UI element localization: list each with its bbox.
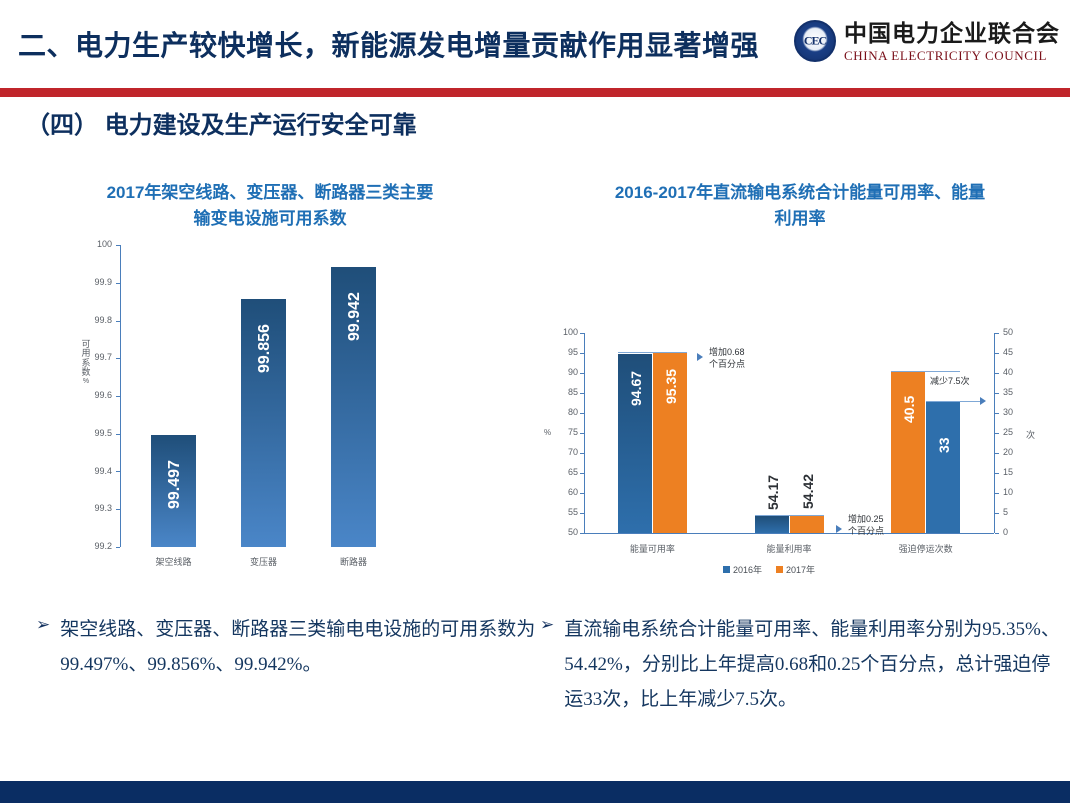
right-chart-annotation-arrow-icon bbox=[836, 525, 842, 533]
right-chart-y-tick-label-left: 90 bbox=[552, 367, 578, 377]
left-chart-y-axis-title-char: 数 bbox=[79, 368, 93, 377]
right-chart-y-tick-label-left: 75 bbox=[552, 427, 578, 437]
left-bullet-block: ➢ 架空线路、变压器、断路器三类输电电设施的可用系数为99.497%、99.85… bbox=[36, 612, 536, 682]
left-chart-y-tick-label: 99.3 bbox=[80, 503, 112, 513]
left-chart-y-tick-label: 100 bbox=[80, 239, 112, 249]
right-chart-bar bbox=[790, 515, 824, 533]
left-bullet-text: 架空线路、变压器、断路器三类输电电设施的可用系数为99.497%、99.856%… bbox=[60, 612, 536, 682]
right-chart-y-tick-right bbox=[995, 513, 999, 514]
right-chart-bar bbox=[755, 516, 789, 533]
right-chart-y-tick-left bbox=[580, 353, 584, 354]
section-heading: （四） 电力建设及生产运行安全可靠 bbox=[26, 105, 417, 140]
left-chart-y-tick-label: 99.6 bbox=[80, 390, 112, 400]
right-chart-bar-value: 54.17 bbox=[765, 475, 781, 510]
right-chart-y-tick-right bbox=[995, 353, 999, 354]
left-chart-y-tick-label: 99.5 bbox=[80, 428, 112, 438]
right-chart-y-tick-left bbox=[580, 333, 584, 334]
right-bullet-block: ➢ 直流输电系统合计能量可用率、能量利用率分别为95.35%、54.42%，分别… bbox=[540, 612, 1060, 717]
left-chart-title: 2017年架空线路、变压器、断路器三类主要 输变电设施可用系数 bbox=[60, 180, 480, 233]
left-chart-plot-area: 10099.999.899.799.699.599.499.399.299.49… bbox=[120, 245, 390, 547]
right-chart-y-tick-left bbox=[580, 493, 584, 494]
right-chart-legend-swatch bbox=[776, 566, 783, 573]
left-chart-y-tick bbox=[116, 509, 120, 510]
right-chart-y-tick-left bbox=[580, 453, 584, 454]
right-chart-legend: 2016年2017年 bbox=[723, 563, 815, 576]
right-chart-y-tick-label-left: 80 bbox=[552, 407, 578, 417]
right-chart-connector bbox=[926, 401, 982, 402]
right-chart-annotation-arrow-icon bbox=[697, 353, 703, 361]
left-chart-y-tick bbox=[116, 396, 120, 397]
right-chart-bar-value: 94.67 bbox=[628, 371, 644, 406]
right-chart-title-line2: 利用率 bbox=[775, 209, 826, 228]
right-chart-y-tick-left bbox=[580, 433, 584, 434]
right-chart-bar-value: 33 bbox=[936, 437, 952, 453]
left-chart-y-axis bbox=[120, 245, 121, 547]
right-chart-legend-label: 2017年 bbox=[786, 563, 815, 576]
left-chart-bar-value: 99.942 bbox=[346, 292, 364, 341]
left-chart-y-tick bbox=[116, 283, 120, 284]
right-chart-y-tick-label-right: 40 bbox=[1003, 367, 1025, 377]
bullet-arrow-icon: ➢ bbox=[540, 612, 554, 717]
right-chart-y-tick-right bbox=[995, 413, 999, 414]
header-red-rule bbox=[0, 88, 1070, 97]
logo-english-name: CHINA ELECTRICITY COUNCIL bbox=[844, 48, 1060, 64]
right-chart-y-tick-label-right: 50 bbox=[1003, 327, 1025, 337]
right-chart-y-tick-left bbox=[580, 393, 584, 394]
right-chart-title: 2016-2017年直流输电系统合计能量可用率、能量 利用率 bbox=[555, 180, 1045, 233]
left-chart-y-axis-title: 可用系数% bbox=[79, 340, 93, 385]
left-chart-y-tick-label: 99.2 bbox=[80, 541, 112, 551]
right-chart-y-tick-label-left: 50 bbox=[552, 527, 578, 537]
right-chart-x-axis bbox=[584, 533, 994, 534]
right-chart-y-tick-left bbox=[580, 413, 584, 414]
right-chart-y-tick-label-right: 25 bbox=[1003, 427, 1025, 437]
right-chart-annotation-line1: 增加0.68 bbox=[709, 346, 745, 358]
left-chart-y-tick-label: 99.7 bbox=[80, 352, 112, 362]
right-chart-y-tick-label-right: 15 bbox=[1003, 467, 1025, 477]
right-chart-annotation: 增加0.25个百分点 bbox=[848, 513, 884, 537]
right-chart-category-label: 能量利用率 bbox=[744, 542, 834, 555]
right-chart-y-tick-left bbox=[580, 373, 584, 374]
left-chart-y-tick bbox=[116, 245, 120, 246]
right-chart-bar-value: 40.5 bbox=[901, 396, 917, 423]
right-chart-legend-swatch bbox=[723, 566, 730, 573]
right-chart-connector bbox=[891, 371, 960, 372]
left-chart-y-tick bbox=[116, 321, 120, 322]
right-chart-annotation-line2: 个百分点 bbox=[709, 358, 745, 370]
right-chart-legend-label: 2016年 bbox=[733, 563, 762, 576]
left-chart-y-tick-label: 99.8 bbox=[80, 315, 112, 325]
right-chart-y-tick-label-left: 60 bbox=[552, 487, 578, 497]
left-chart-y-tick bbox=[116, 434, 120, 435]
right-chart-annotation-arrow-icon bbox=[980, 397, 986, 405]
left-availability-chart: 可用系数% 10099.999.899.799.699.599.499.399.… bbox=[78, 245, 408, 575]
right-chart-y-tick-label-right: 30 bbox=[1003, 407, 1025, 417]
right-chart-y-tick-right bbox=[995, 393, 999, 394]
right-dc-transmission-chart: 1009590858075706560555050454035302520151… bbox=[548, 325, 1048, 580]
right-chart-y-axis-left-title: % bbox=[544, 428, 551, 437]
left-chart-y-tick-label: 99.4 bbox=[80, 466, 112, 476]
right-chart-y-tick-right bbox=[995, 453, 999, 454]
right-chart-bar-value: 54.42 bbox=[800, 474, 816, 509]
slide-header: 二、电力生产较快增长，新能源发电增量贡献作用显著增强 中国电力企业联合会 CHI… bbox=[0, 0, 1070, 88]
left-chart-bar-value: 99.856 bbox=[256, 324, 274, 373]
right-chart-connector bbox=[618, 352, 687, 353]
right-chart-annotation: 减少7.5次 bbox=[930, 375, 970, 387]
right-chart-y-tick-label-left: 55 bbox=[552, 507, 578, 517]
right-chart-annotation-line1: 增加0.25 bbox=[848, 513, 884, 525]
right-chart-annotation-line2: 个百分点 bbox=[848, 525, 884, 537]
right-chart-y-tick-label-left: 65 bbox=[552, 467, 578, 477]
right-chart-y-tick-label-right: 10 bbox=[1003, 487, 1025, 497]
bullet-arrow-icon: ➢ bbox=[36, 612, 50, 682]
right-chart-y-axis-left bbox=[584, 333, 585, 533]
right-chart-y-axis-right-title: 次 bbox=[1026, 428, 1035, 441]
right-chart-y-tick-right bbox=[995, 433, 999, 434]
right-chart-y-tick-label-left: 95 bbox=[552, 347, 578, 357]
right-chart-y-tick-label-left: 100 bbox=[552, 327, 578, 337]
right-bullet-text: 直流输电系统合计能量可用率、能量利用率分别为95.35%、54.42%，分别比上… bbox=[564, 612, 1060, 717]
left-chart-category-label: 变压器 bbox=[223, 555, 304, 568]
right-chart-plot-area: 1009590858075706560555050454035302520151… bbox=[584, 333, 994, 533]
footer-bar bbox=[0, 781, 1070, 803]
left-chart-category-label: 断路器 bbox=[313, 555, 394, 568]
logo-chinese-name: 中国电力企业联合会 bbox=[844, 20, 1060, 46]
right-chart-y-tick-right bbox=[995, 493, 999, 494]
right-chart-category-label: 强迫停运次数 bbox=[881, 542, 971, 555]
right-chart-y-tick-left bbox=[580, 513, 584, 514]
right-chart-y-tick-right bbox=[995, 473, 999, 474]
slide: 二、电力生产较快增长，新能源发电增量贡献作用显著增强 中国电力企业联合会 CHI… bbox=[0, 0, 1070, 803]
right-chart-bar-value: 95.35 bbox=[663, 369, 679, 404]
right-chart-y-tick-right bbox=[995, 533, 999, 534]
right-chart-y-tick-label-right: 35 bbox=[1003, 387, 1025, 397]
cec-logo: 中国电力企业联合会 CHINA ELECTRICITY COUNCIL bbox=[794, 20, 1060, 64]
right-chart-annotation-line1: 减少7.5次 bbox=[930, 375, 970, 387]
right-chart-y-tick-right bbox=[995, 333, 999, 334]
right-chart-title-line1: 2016-2017年直流输电系统合计能量可用率、能量 bbox=[615, 183, 985, 202]
right-chart-y-tick-label-right: 45 bbox=[1003, 347, 1025, 357]
left-chart-y-tick bbox=[116, 471, 120, 472]
right-chart-y-tick-label-left: 70 bbox=[552, 447, 578, 457]
right-chart-y-tick-right bbox=[995, 373, 999, 374]
left-chart-category-label: 架空线路 bbox=[133, 555, 214, 568]
left-chart-y-tick bbox=[116, 547, 120, 548]
left-chart-y-axis-title-char: % bbox=[79, 378, 93, 385]
right-chart-legend-item: 2016年 bbox=[723, 563, 762, 576]
right-chart-annotation: 增加0.68个百分点 bbox=[709, 346, 745, 370]
right-chart-connector bbox=[755, 515, 824, 516]
right-chart-category-label: 能量可用率 bbox=[607, 542, 697, 555]
left-chart-title-line1: 2017年架空线路、变压器、断路器三类主要 bbox=[107, 183, 434, 202]
right-chart-y-tick-label-right: 0 bbox=[1003, 527, 1025, 537]
left-chart-bar-value: 99.497 bbox=[166, 460, 184, 509]
left-chart-y-tick bbox=[116, 358, 120, 359]
cec-seal-icon bbox=[794, 20, 836, 62]
left-chart-title-line2: 输变电设施可用系数 bbox=[194, 209, 347, 228]
page-title: 二、电力生产较快增长，新能源发电增量贡献作用显著增强 bbox=[18, 24, 838, 64]
right-chart-y-tick-label-right: 5 bbox=[1003, 507, 1025, 517]
right-chart-y-tick-label-right: 20 bbox=[1003, 447, 1025, 457]
right-chart-y-tick-label-left: 85 bbox=[552, 387, 578, 397]
left-chart-y-tick-label: 99.9 bbox=[80, 277, 112, 287]
logo-text: 中国电力企业联合会 CHINA ELECTRICITY COUNCIL bbox=[844, 20, 1060, 64]
right-chart-bar bbox=[926, 401, 960, 533]
right-chart-y-tick-left bbox=[580, 473, 584, 474]
right-chart-y-tick-left bbox=[580, 533, 584, 534]
right-chart-legend-item: 2017年 bbox=[776, 563, 815, 576]
